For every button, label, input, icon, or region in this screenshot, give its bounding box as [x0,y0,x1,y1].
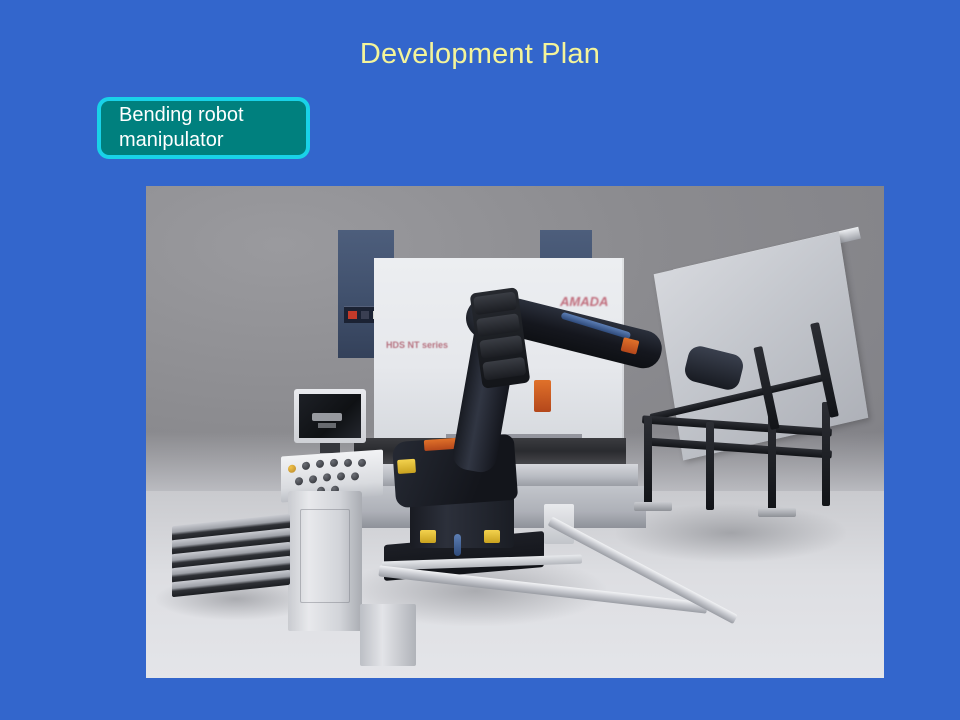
robot-accent-tag [484,530,500,543]
cnc-monitor-stand [320,443,340,453]
panel-button [302,462,310,471]
rack-leg [644,416,652,504]
rack-leg [706,422,714,510]
panel-button [351,472,359,481]
robot-accent-tag [420,530,436,543]
panel-button [337,472,345,481]
cnc-monitor [294,389,366,443]
gripper-pad [473,292,517,316]
panel-button [344,459,352,468]
panel-button [316,460,324,469]
robot-tool-connector [534,380,551,412]
panel-button [358,459,366,468]
equipment-pedestal [360,604,416,666]
robot-connector [621,337,640,354]
indicator-led-red [348,311,357,319]
bent-part-stack [172,520,300,598]
robot-cable [454,534,461,556]
cnc-screen [299,394,361,438]
panel-button [288,465,296,474]
press-brake-logo: AMADA [560,294,608,309]
gripper-pad [476,313,520,337]
press-brake-model-text: HDS NT series [386,340,448,350]
rack-bar [646,438,832,459]
rack-bar [642,415,832,436]
screen-graphic-primary [312,413,342,421]
gripper-pad [479,335,523,359]
callout-label-text: Bending robot manipulator [119,103,244,153]
page-title: Development Plan [0,37,960,71]
rack-leg [822,402,830,506]
presentation-slide: Development Plan Bending robot manipulat… [0,0,960,720]
indicator-led-dark [361,311,369,319]
tilting-rack [642,392,854,524]
callout-label-box: Bending robot manipulator [97,97,310,159]
panel-button [295,477,303,486]
robot-cell-photograph: AMADA HDS NT series [146,186,884,678]
screen-graphic-secondary [318,423,336,428]
robot-accent-tag [397,459,416,474]
panel-button [309,475,317,484]
rack-foot [634,502,672,511]
panel-button [323,473,331,482]
gripper-pad [482,357,526,381]
cabinet-door-seam [300,509,350,603]
panel-button [330,459,338,468]
rack-foot [758,508,796,517]
